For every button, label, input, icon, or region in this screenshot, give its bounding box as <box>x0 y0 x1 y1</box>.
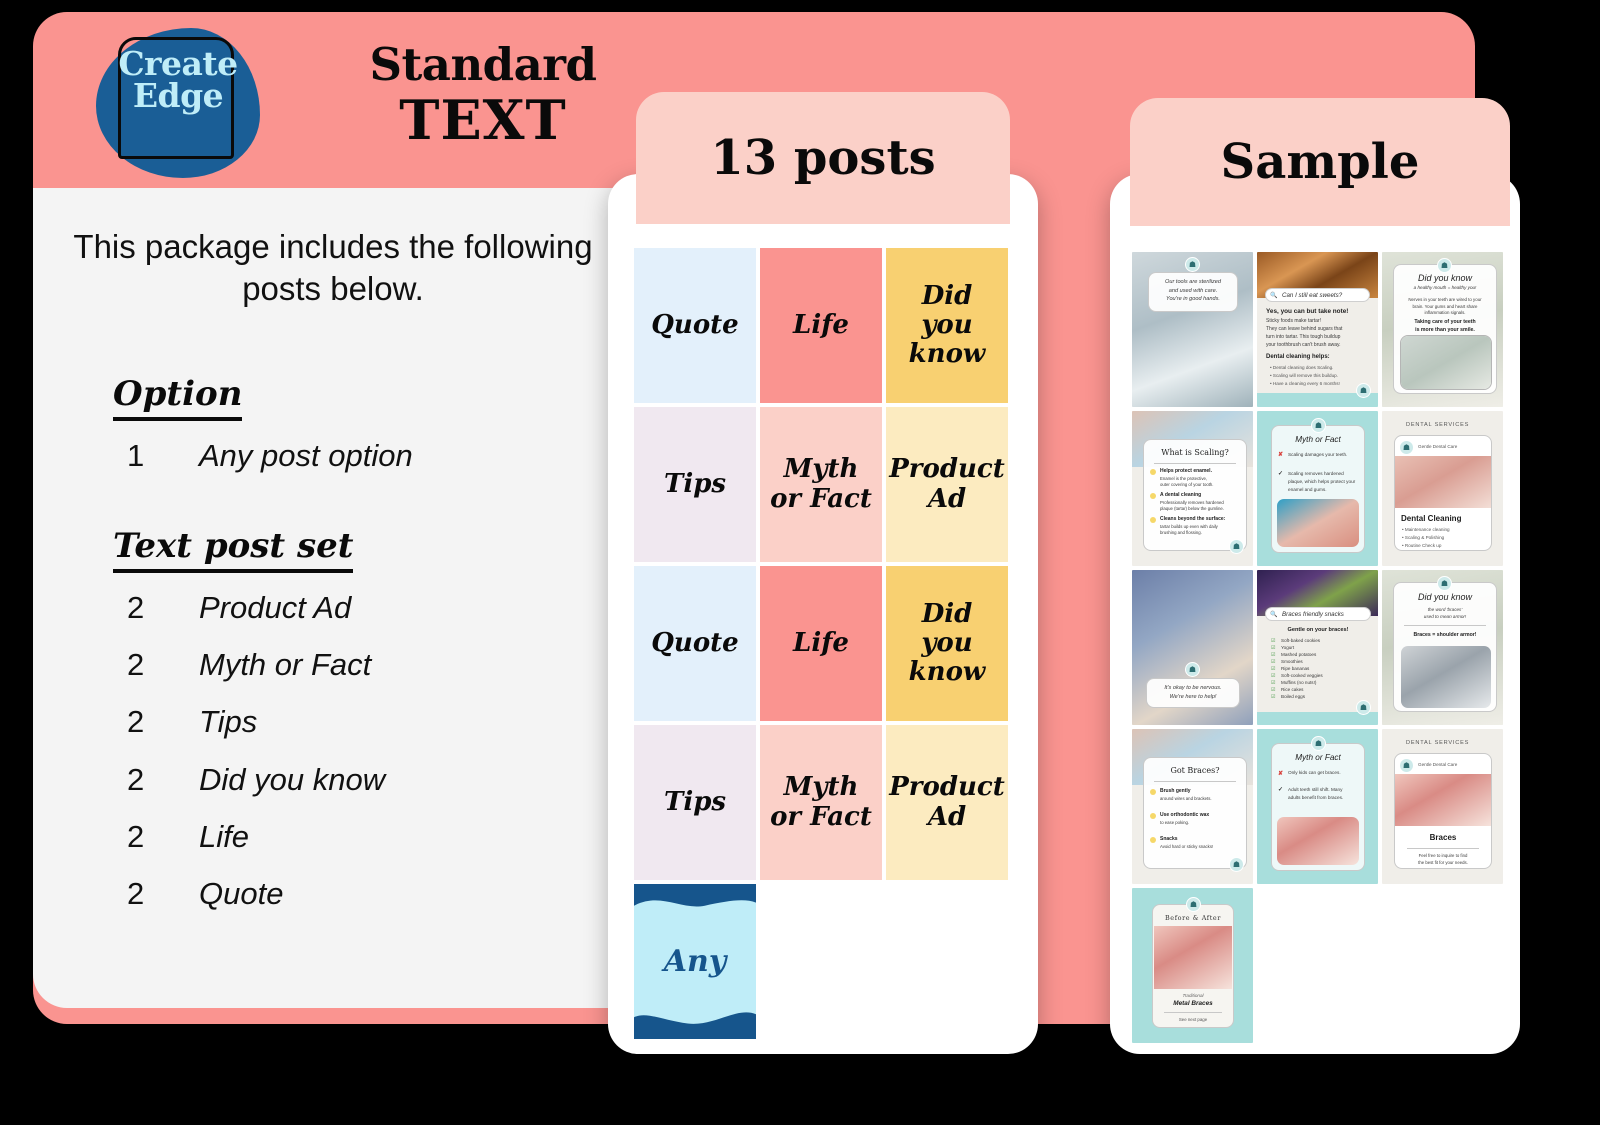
quote-text: It's okay to be nervous. We're here to h… <box>1148 684 1238 702</box>
textset-heading: Text post set <box>113 526 353 573</box>
check-icon: ☑ <box>1271 687 1275 693</box>
post-type-label: Quote <box>651 311 738 340</box>
snack-item: Mashed potatoes <box>1281 652 1316 657</box>
post-type-cell[interactable]: Life <box>760 566 882 721</box>
snack-item: Smoothies <box>1281 659 1303 664</box>
title: Myth or Fact <box>1273 753 1363 762</box>
posts-grid: Quote Life Did you know Tips Myth or Fac… <box>634 248 1012 1038</box>
textset-label: Tips <box>199 704 257 740</box>
post-type-cell[interactable]: Product Ad <box>886 725 1008 880</box>
tip-sub: brushing and flossing. <box>1160 530 1202 535</box>
post-type-cell[interactable]: Myth or Fact <box>760 725 882 880</box>
post-type-label: Quote <box>651 629 738 658</box>
snack-item: Rice cakes <box>1281 687 1303 692</box>
textset-label: Did you know <box>199 762 385 798</box>
search-icon: 🔍 <box>1270 611 1277 618</box>
post-type-label: Life <box>793 311 849 340</box>
post-type-cell[interactable]: Myth or Fact <box>760 407 882 562</box>
myth-text: Scaling damages your teeth. <box>1288 451 1354 459</box>
tip-sub: Avoid hard or sticky snacks! <box>1160 844 1213 849</box>
page-title: Standard TEXT <box>333 38 633 150</box>
snack-item: Ripe bananas <box>1281 666 1309 671</box>
snack-item: Soft-cooked veggies <box>1281 673 1323 678</box>
caption-big: Metal Braces <box>1154 1000 1232 1007</box>
package-details-panel: This package includes the following post… <box>33 188 633 1008</box>
bullet-item: • Have a cleaning every 6 months! <box>1270 381 1340 386</box>
body-text: Nerves in your teeth are wired to your b… <box>1398 297 1492 317</box>
search-query: Can I still eat sweets? <box>1282 292 1342 299</box>
logo-text-line1: Create <box>88 48 268 80</box>
post-type-cell[interactable]: Tips <box>634 725 756 880</box>
tooth-icon: ☗ <box>1437 258 1452 273</box>
caption-small: Traditional <box>1154 993 1232 998</box>
brand-logo: Create Edge <box>88 22 268 182</box>
check-icon: ☑ <box>1271 694 1275 700</box>
fact-text: Adult teeth still shift. Many adults ben… <box>1288 786 1356 802</box>
list-item: 2 Quote <box>127 876 607 912</box>
list-item: 1 Any post option <box>127 438 607 474</box>
tip-sub: around wires and brackets. <box>1160 796 1212 801</box>
page-title-line2: TEXT <box>333 91 633 150</box>
tooth-icon: ☗ <box>1229 857 1244 872</box>
post-type-label: Product Ad <box>889 773 1005 831</box>
headline: Yes, you can but take note! <box>1266 308 1348 315</box>
textset-label: Myth or Fact <box>199 647 371 683</box>
tooth-icon: ☗ <box>1311 736 1326 751</box>
option-count: 1 <box>127 438 199 474</box>
sub-heading: Dental cleaning helps: <box>1266 354 1330 360</box>
post-type-label: Product Ad <box>889 455 1005 513</box>
lightbulb-icon <box>1150 517 1156 523</box>
tip-sub: Professionally removes hardened <box>1160 500 1224 505</box>
post-type-label: Did you know <box>892 600 1002 687</box>
textset-count: 2 <box>127 762 199 798</box>
tip-head: Use orthodontic wax <box>1160 812 1209 818</box>
check-icon: ☑ <box>1271 645 1275 651</box>
tip-sub: outer covering of your tooth. <box>1160 482 1214 487</box>
post-type-cell[interactable]: Tips <box>634 407 756 562</box>
logo-text: Create Edge <box>88 48 268 111</box>
quote-text: Our tools are sterilized and used with c… <box>1150 278 1236 304</box>
service-title: Dental Cleaning <box>1401 514 1461 523</box>
bold-text: Braces = shoulder armor! <box>1397 632 1493 638</box>
sample-thumb[interactable]: Got Braces? Brush gently around wires an… <box>1132 729 1253 884</box>
title: Myth or Fact <box>1273 435 1363 444</box>
post-type-label: Life <box>793 629 849 658</box>
intro-text: This package includes the following post… <box>63 226 603 310</box>
logo-text-line2: Edge <box>88 80 268 112</box>
tip-sub: to ease poking. <box>1160 820 1189 825</box>
sample-thumb[interactable]: ☗ It's okay to be nervous. We're here to… <box>1132 570 1253 725</box>
subtitle: a healthy mouth = healthy you! <box>1395 285 1495 290</box>
tooth-icon: ☗ <box>1437 576 1452 591</box>
textset-label: Quote <box>199 876 283 912</box>
search-query: Braces friendly snacks <box>1282 611 1344 618</box>
list-item: 2 Tips <box>127 704 607 740</box>
sample-thumb[interactable]: 🔍 Can I still eat sweets? Yes, you can b… <box>1257 252 1378 407</box>
eyebrow: DENTAL SERVICES <box>1406 740 1469 746</box>
tooth-icon: ☗ <box>1399 440 1414 455</box>
tip-head: A dental cleaning <box>1160 492 1201 498</box>
title: Did you know <box>1395 273 1495 283</box>
page-title-line1: Standard <box>333 38 633 91</box>
tip-sub: tartar builds up even with daily <box>1160 524 1218 529</box>
sample-thumb[interactable]: 🔍 Braces friendly snacks Gentle on your … <box>1257 570 1378 725</box>
body-line: your toothbrush can't brush away. <box>1266 342 1341 348</box>
body-line: They can leave behind sugars that <box>1266 326 1342 332</box>
sample-thumb[interactable]: ☗ Did you know a healthy mouth = healthy… <box>1382 252 1503 407</box>
tooth-icon: ☗ <box>1185 257 1200 272</box>
post-type-cell[interactable]: Quote <box>634 566 756 721</box>
lightbulb-icon <box>1150 789 1156 795</box>
sample-thumb[interactable]: DENTAL SERVICES ☗ Gentle Dental Care Bra… <box>1382 729 1503 884</box>
tooth-icon: ☗ <box>1356 700 1371 715</box>
post-type-cell[interactable]: Quote <box>634 248 756 403</box>
textset-count: 2 <box>127 590 199 626</box>
title: What is Scaling? <box>1145 448 1245 457</box>
post-type-cell[interactable]: Life <box>760 248 882 403</box>
headline: Gentle on your braces! <box>1267 627 1369 633</box>
subtitle: the word 'braces' used to mean armor! <box>1397 606 1493 621</box>
post-type-cell[interactable]: Product Ad <box>886 407 1008 562</box>
footer-note: See next page <box>1154 1017 1232 1022</box>
sample-thumb[interactable]: DENTAL SERVICES ☗ Gentle Dental Care Den… <box>1382 411 1503 566</box>
post-type-label: Tips <box>664 788 726 817</box>
tip-sub: plaque (tartar) below the gumline. <box>1160 506 1224 511</box>
bullet-item: • Scaling & Polishing <box>1402 535 1444 540</box>
tip-head: Cleans beyond the surface: <box>1160 516 1225 522</box>
bullet-item: • Scaling will remove this buildup. <box>1270 373 1338 378</box>
sample-thumb[interactable]: ☗ Our tools are sterilized and used with… <box>1132 252 1253 407</box>
check-icon: ✓ <box>1278 470 1283 477</box>
option-heading: Option <box>113 374 242 421</box>
header-band: Create Edge Standard TEXT <box>33 12 633 188</box>
sample-thumb[interactable]: What is Scaling? Helps protect enamel. E… <box>1132 411 1253 566</box>
lightbulb-icon <box>1150 493 1156 499</box>
lightbulb-icon <box>1150 469 1156 475</box>
sample-thumb[interactable]: ☗ Myth or Fact ✘ Scaling damages your te… <box>1257 411 1378 566</box>
bullet-item: • Routine Check up <box>1402 543 1441 548</box>
post-type-label: Myth or Fact <box>766 773 876 831</box>
fact-text: Scaling removes hardened plaque, which h… <box>1288 470 1356 493</box>
list-item: 2 Myth or Fact <box>127 647 607 683</box>
bullet-item: • Dental cleaning does Scaling. <box>1270 365 1333 370</box>
snack-item: Muffins (no nuts!) <box>1281 680 1316 685</box>
tooth-icon: ☗ <box>1399 758 1414 773</box>
check-icon: ☑ <box>1271 680 1275 686</box>
textset-count: 2 <box>127 704 199 740</box>
cross-icon: ✘ <box>1278 451 1283 458</box>
post-type-label: Did you know <box>892 282 1002 369</box>
check-icon: ☑ <box>1271 652 1275 658</box>
list-item: 2 Product Ad <box>127 590 607 626</box>
title: Before & After <box>1154 914 1232 922</box>
sample-thumb[interactable]: ☗ Myth or Fact ✘ Only kids can get brace… <box>1257 729 1378 884</box>
tip-head: Helps protect enamel. <box>1160 468 1212 474</box>
tip-head: Brush gently <box>1160 788 1191 794</box>
tip-sub: Enamel is the protective, <box>1160 476 1207 481</box>
tooth-icon: ☗ <box>1229 539 1244 554</box>
list-item: 2 Life <box>127 819 607 855</box>
lightbulb-icon <box>1150 837 1156 843</box>
post-type-label: Any <box>664 945 727 979</box>
tooth-icon: ☗ <box>1185 662 1200 677</box>
brand-name: Gentle Dental Care <box>1418 444 1457 449</box>
lightbulb-icon <box>1150 813 1156 819</box>
snack-item: Boiled eggs <box>1281 694 1305 699</box>
brand-name: Gentle Dental Care <box>1418 762 1457 767</box>
check-icon: ✓ <box>1278 786 1283 793</box>
sample-card-title: Sample <box>1130 98 1510 226</box>
check-icon: ☑ <box>1271 659 1275 665</box>
snack-item: Soft-baked cookies <box>1281 638 1320 643</box>
bullet-item: • Maintenance cleaning <box>1402 527 1450 532</box>
tip-head: Snacks <box>1160 836 1178 842</box>
body-line: turn into tartar. This tough buildup <box>1266 334 1340 340</box>
post-type-cell[interactable]: Did you know <box>886 248 1008 403</box>
snack-item: Yogurt <box>1281 645 1294 650</box>
sample-thumb[interactable]: ☗ Did you know the word 'braces' used to… <box>1382 570 1503 725</box>
body-line: Sticky foods make tartar! <box>1266 318 1321 324</box>
tooth-icon: ☗ <box>1186 897 1201 912</box>
service-title: Braces <box>1396 833 1490 842</box>
check-icon: ☑ <box>1271 638 1275 644</box>
textset-label: Product Ad <box>199 590 351 626</box>
list-item: 2 Did you know <box>127 762 607 798</box>
bold-text: Taking care of your teeth is more than y… <box>1398 319 1492 334</box>
tooth-icon: ☗ <box>1356 383 1371 398</box>
myth-text: Only kids can get braces. <box>1288 770 1356 775</box>
note-text: Feel free to inquire to find the best fi… <box>1398 853 1488 866</box>
post-type-cell-any[interactable]: Any <box>634 884 756 1039</box>
textset-count: 2 <box>127 876 199 912</box>
cross-icon: ✘ <box>1278 770 1283 777</box>
option-label: Any post option <box>199 438 413 474</box>
check-icon: ☑ <box>1271 666 1275 672</box>
textset-count: 2 <box>127 647 199 683</box>
search-icon: 🔍 <box>1270 292 1277 299</box>
posts-card-title: 13 posts <box>636 92 1010 224</box>
poster-canvas: Create Edge Standard TEXT This package i… <box>0 0 1600 1125</box>
check-icon: ☑ <box>1271 673 1275 679</box>
eyebrow: DENTAL SERVICES <box>1406 422 1469 428</box>
sample-thumb[interactable]: ☗ Before & After Traditional Metal Brace… <box>1132 888 1253 1043</box>
post-type-cell[interactable]: Did you know <box>886 566 1008 721</box>
title: Got Braces? <box>1145 766 1245 775</box>
sample-grid: ☗ Our tools are sterilized and used with… <box>1132 252 1504 1043</box>
post-type-label: Tips <box>664 470 726 499</box>
post-type-label: Myth or Fact <box>766 455 876 513</box>
textset-count: 2 <box>127 819 199 855</box>
title: Did you know <box>1395 592 1495 602</box>
tooth-icon: ☗ <box>1311 418 1326 433</box>
textset-label: Life <box>199 819 249 855</box>
